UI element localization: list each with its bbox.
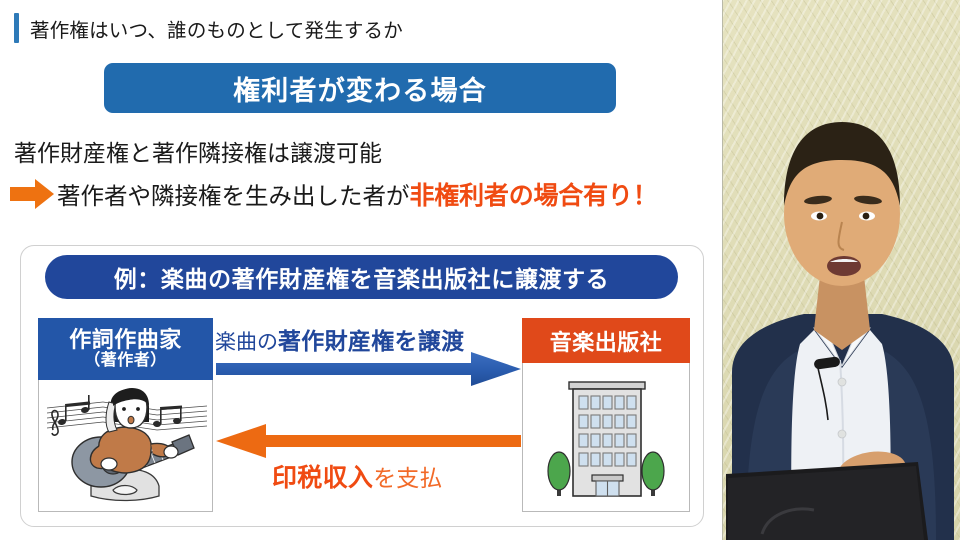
body-line-2-black: 著作者や隣接権を生み出した者が [57, 177, 410, 211]
banner-heading: 権利者が変わる場合 [104, 63, 616, 113]
transfer-label-bold: 著作財産権を譲渡 [278, 328, 464, 354]
orange-left-arrow-icon [216, 424, 521, 458]
royalty-label-thin: を支払 [373, 465, 442, 491]
royalty-label: 印税収入を支払 [272, 458, 442, 494]
party-author: 作詞作曲家 （著作者） [38, 318, 213, 512]
transfer-label: 楽曲の著作財産権を譲渡 [215, 322, 464, 356]
party-publisher-title: 音楽出版社 [550, 325, 663, 357]
blue-accent-bar [14, 13, 19, 43]
royalty-label-bold: 印税収入 [272, 464, 373, 492]
party-publisher: 音楽出版社 [522, 318, 690, 512]
example-header: 例：楽曲の著作財産権を音楽出版社に譲渡する [45, 255, 678, 299]
party-publisher-header: 音楽出版社 [522, 318, 690, 363]
body-line-2: 著作者や隣接権を生み出した者が 非権利者の場合有り！ [8, 176, 658, 212]
presenter-video-feed[interactable] [722, 0, 960, 540]
transfer-label-thin: 楽曲の [215, 331, 278, 354]
example-header-text: 例：楽曲の著作財産権を音楽出版社に譲渡する [114, 260, 610, 294]
party-author-subtitle: （著作者） [84, 353, 167, 370]
office-building-illustration [522, 363, 690, 512]
video-left-edge [722, 0, 723, 540]
presenter-figure [722, 0, 960, 540]
section-title: 著作権はいつ、誰のものとして発生するか [14, 12, 403, 44]
presenter-mouth [827, 256, 861, 276]
body-line-1: 著作財産権と著作隣接権は譲渡可能 [14, 134, 382, 168]
slide-with-presenter: 著作権はいつ、誰のものとして発生するか 権利者が変わる場合 著作財産権と著作隣接… [0, 0, 960, 540]
body-line-2-red: 非権利者の場合有り！ [410, 176, 658, 212]
party-author-title: 作詞作曲家 [69, 329, 182, 352]
guitar-player-illustration [38, 380, 213, 512]
orange-right-arrow-icon [8, 176, 56, 212]
section-title-text: 著作権はいつ、誰のものとして発生するか [30, 14, 403, 43]
party-author-header: 作詞作曲家 （著作者） [38, 318, 213, 380]
blue-right-arrow-icon [216, 352, 521, 386]
presentation-slide: 著作権はいつ、誰のものとして発生するか 権利者が変わる場合 著作財産権と著作隣接… [0, 0, 722, 540]
banner-heading-text: 権利者が変わる場合 [233, 69, 487, 108]
